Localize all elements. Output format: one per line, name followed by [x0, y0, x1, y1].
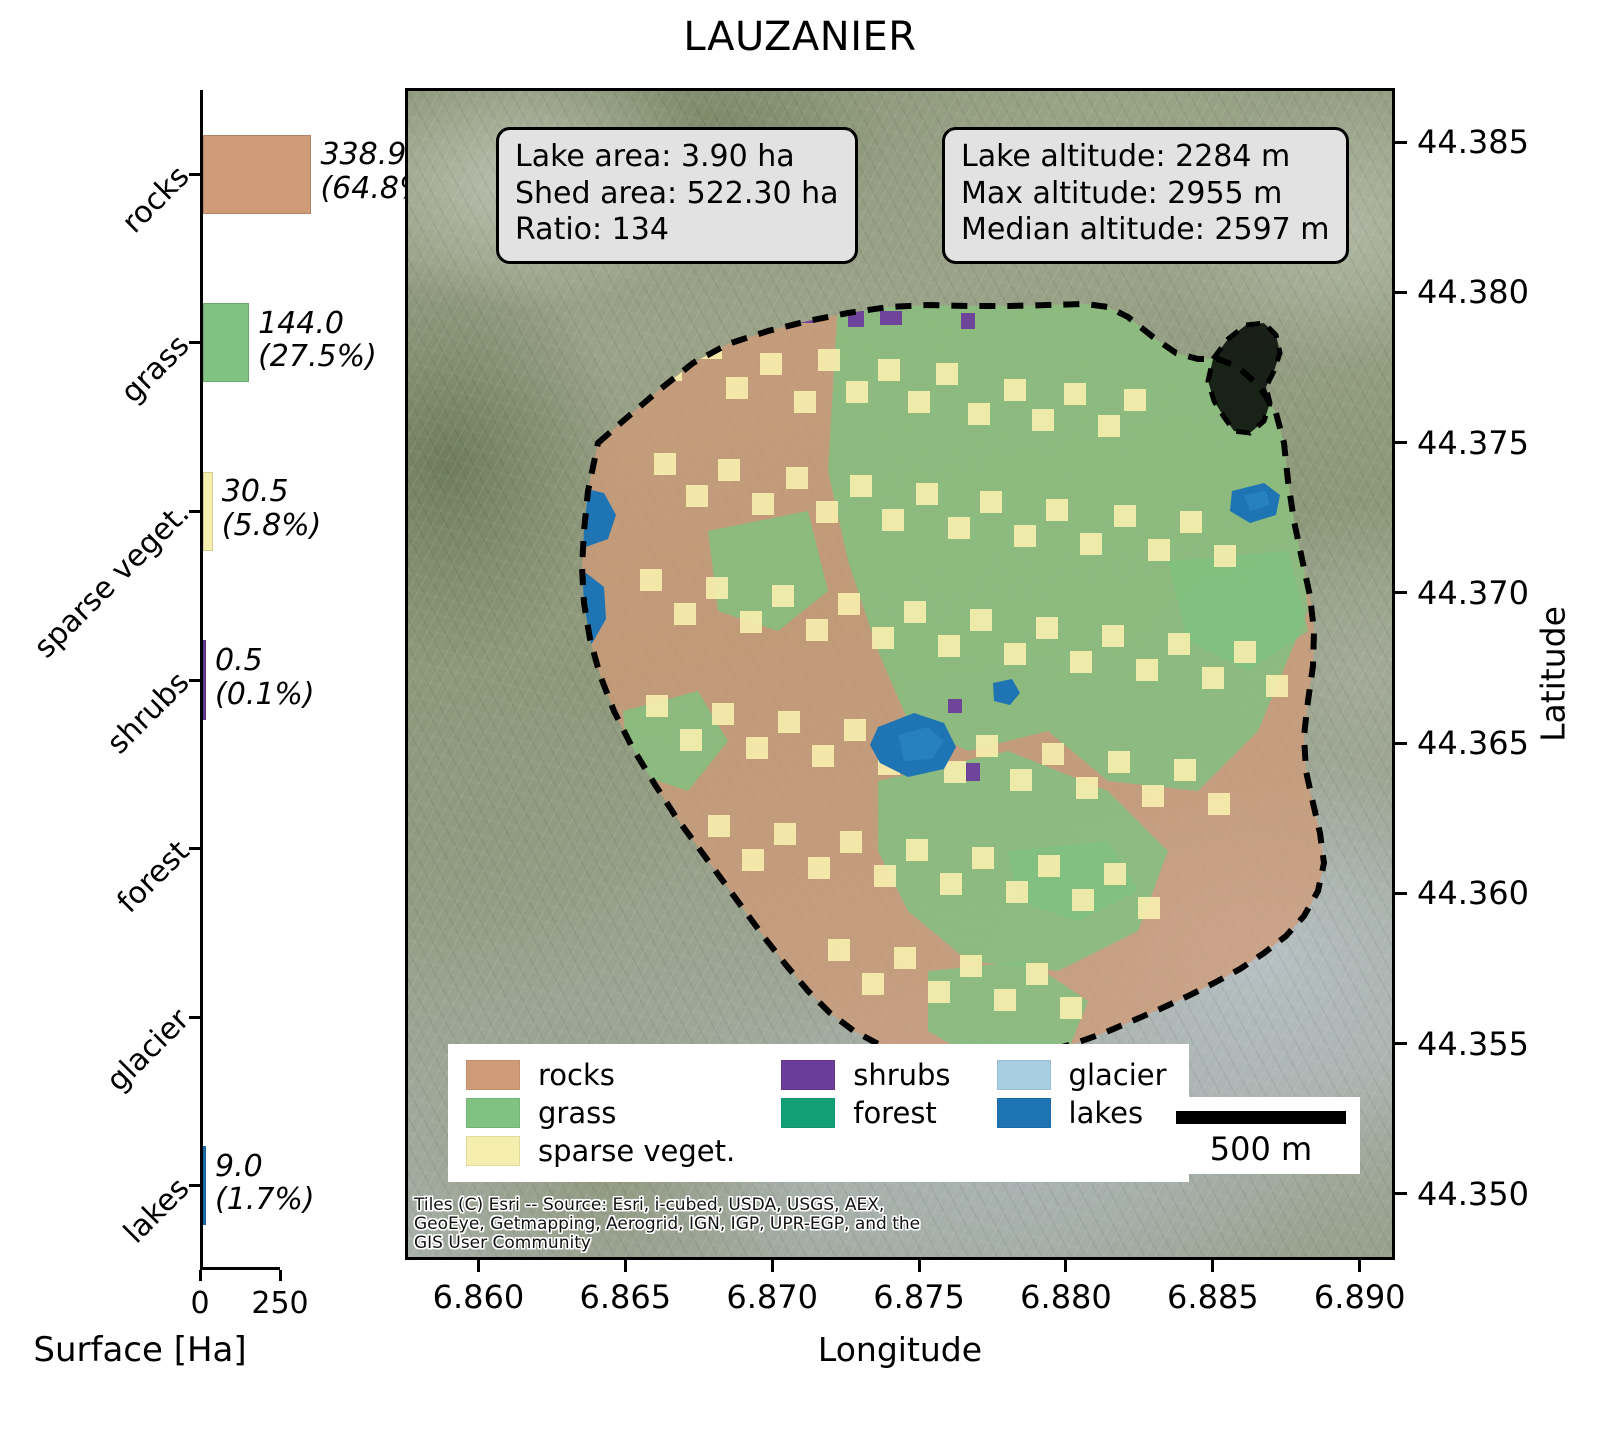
- bar-value-label: 9.0: [215, 1150, 315, 1184]
- bar-annotation: 0.5(0.1%): [215, 644, 315, 711]
- bar-value-label: 0.5: [215, 644, 315, 678]
- map-y-tick-label: 44.380: [1417, 273, 1529, 311]
- map-x-tick-label: 6.885: [1167, 1278, 1259, 1316]
- map-y-tick-label: 44.375: [1417, 424, 1529, 462]
- legend-label: forest: [853, 1096, 937, 1130]
- legend-swatch-rocks: [466, 1060, 520, 1090]
- scale-bar-label: 500 m: [1176, 1130, 1346, 1168]
- legend-item-shrubs: shrubs: [781, 1058, 950, 1092]
- legend-swatch-forest: [781, 1098, 835, 1128]
- bar-x-tick: [199, 1270, 202, 1281]
- map-y-tick-label: 44.365: [1417, 724, 1529, 762]
- bar-y-tick: [189, 847, 200, 850]
- bar-annotation: 30.5(5.8%): [222, 475, 322, 542]
- legend-swatch-glacier: [997, 1060, 1051, 1090]
- bar-x-tick-label: 0: [190, 1286, 209, 1321]
- satellite-map[interactable]: Lake area: 3.90 ha Shed area: 522.30 ha …: [405, 88, 1395, 1260]
- legend-label: rocks: [538, 1058, 615, 1092]
- map-x-tick: [1064, 1260, 1067, 1272]
- map-y-tick-label: 44.355: [1417, 1025, 1529, 1063]
- map-x-tick: [624, 1260, 627, 1272]
- map-x-tick-label: 6.880: [1020, 1278, 1112, 1316]
- scale-bar-line: [1176, 1111, 1346, 1124]
- map-y-tick: [1395, 441, 1407, 444]
- map-x-tick-label: 6.870: [726, 1278, 818, 1316]
- legend-label: grass: [538, 1096, 616, 1130]
- legend-swatch-grass: [466, 1098, 520, 1128]
- map-x-tick-label: 6.860: [433, 1278, 525, 1316]
- legend-column-1: rocksgrasssparse veget.: [466, 1058, 735, 1168]
- legend-item-forest: forest: [781, 1096, 950, 1130]
- bar-annotation: 9.0(1.7%): [215, 1150, 315, 1217]
- bar-percent-label: (0.1%): [215, 678, 315, 712]
- bar-axis-x-spine: [200, 1267, 280, 1270]
- bar-y-tick: [189, 1016, 200, 1019]
- bar-percent-label: (5.8%): [222, 509, 322, 543]
- map-y-tick: [1395, 742, 1407, 745]
- bar-annotation: 144.0(27.5%): [258, 307, 377, 374]
- map-x-tick: [1358, 1260, 1361, 1272]
- map-x-tick: [1211, 1260, 1214, 1272]
- scale-bar: 500 m: [1162, 1097, 1360, 1174]
- map-y-tick: [1395, 591, 1407, 594]
- legend-item-glacier: glacier: [997, 1058, 1167, 1092]
- lake-altitude-text: Lake altitude: 2284 m: [961, 139, 1330, 176]
- map-y-tick: [1395, 1192, 1407, 1195]
- map-x-tick-label: 6.890: [1314, 1278, 1406, 1316]
- map-x-tick-label: 6.865: [580, 1278, 672, 1316]
- legend-item-sparse-veget-: sparse veget.: [466, 1134, 735, 1168]
- surface-bar-chart: 338.9(64.8%)144.0(27.5%)30.5(5.8%)0.5(0.…: [200, 90, 400, 1270]
- map-axis-y-label: Latitude: [1534, 606, 1573, 742]
- map-attribution: Tiles (C) Esri -- Source: Esri, i-cubed,…: [414, 1196, 924, 1253]
- bar-x-tick: [279, 1270, 282, 1281]
- bar-y-tick: [189, 341, 200, 344]
- legend-item-grass: grass: [466, 1096, 735, 1130]
- map-y-tick-label: 44.350: [1417, 1175, 1529, 1213]
- legend-item-lakes: lakes: [997, 1096, 1167, 1130]
- legend-label: lakes: [1069, 1096, 1144, 1130]
- bar-x-tick-label: 250: [251, 1286, 308, 1321]
- bar-lakes[interactable]: [203, 1146, 206, 1225]
- map-y-tick: [1395, 892, 1407, 895]
- legend-label: glacier: [1069, 1058, 1167, 1092]
- legend-item-rocks: rocks: [466, 1058, 735, 1092]
- legend-swatch-lakes: [997, 1098, 1051, 1128]
- map-y-tick: [1395, 1042, 1407, 1045]
- lake-info-box: Lake area: 3.90 ha Shed area: 522.30 ha …: [496, 127, 858, 264]
- legend-column-3: glacierlakes: [997, 1058, 1167, 1168]
- map-x-tick: [918, 1260, 921, 1272]
- bar-value-label: 144.0: [258, 307, 377, 341]
- map-y-tick-label: 44.370: [1417, 574, 1529, 612]
- map-axis-x-label: Longitude: [818, 1330, 982, 1369]
- bar-sparse-veget-[interactable]: [203, 472, 213, 551]
- legend-label: sparse veget.: [538, 1134, 735, 1168]
- bar-percent-label: (27.5%): [258, 340, 377, 374]
- bar-shrubs[interactable]: [203, 640, 206, 719]
- legend-swatch-sparse-veget-: [466, 1136, 520, 1166]
- map-y-tick: [1395, 291, 1407, 294]
- map-y-tick-label: 44.385: [1417, 123, 1529, 161]
- bar-grass[interactable]: [203, 303, 249, 382]
- shed-area-text: Shed area: 522.30 ha: [515, 176, 839, 213]
- map-x-tick: [477, 1260, 480, 1272]
- map-x-tick: [771, 1260, 774, 1272]
- lake-area-text: Lake area: 3.90 ha: [515, 139, 839, 176]
- median-altitude-text: Median altitude: 2597 m: [961, 212, 1330, 249]
- page-title: LAUZANIER: [0, 14, 1600, 60]
- bar-axis-x-label: Surface [Ha]: [33, 1330, 246, 1370]
- ratio-text: Ratio: 134: [515, 212, 839, 249]
- legend-swatch-shrubs: [781, 1060, 835, 1090]
- map-y-tick-label: 44.360: [1417, 874, 1529, 912]
- bar-value-label: 30.5: [222, 475, 322, 509]
- bar-y-tick: [189, 510, 200, 513]
- legend-column-2: shrubsforest: [781, 1058, 950, 1168]
- legend-label: shrubs: [853, 1058, 950, 1092]
- figure-root: LAUZANIER 338.9(64.8%)144.0(27.5%)30.5(5…: [0, 0, 1600, 1400]
- bar-percent-label: (1.7%): [215, 1183, 315, 1217]
- altitude-info-box: Lake altitude: 2284 m Max altitude: 2955…: [942, 127, 1349, 264]
- landcover-legend: rocksgrasssparse veget. shrubsforest gla…: [448, 1044, 1189, 1182]
- max-altitude-text: Max altitude: 2955 m: [961, 176, 1330, 213]
- map-x-tick-label: 6.875: [873, 1278, 965, 1316]
- map-y-tick: [1395, 141, 1407, 144]
- bar-y-tick: [189, 679, 200, 682]
- bar-rocks[interactable]: [203, 135, 311, 214]
- bar-y-tick: [189, 173, 200, 176]
- bar-y-tick: [189, 1184, 200, 1187]
- bar-category-lakes: lakes: [0, 1171, 196, 1429]
